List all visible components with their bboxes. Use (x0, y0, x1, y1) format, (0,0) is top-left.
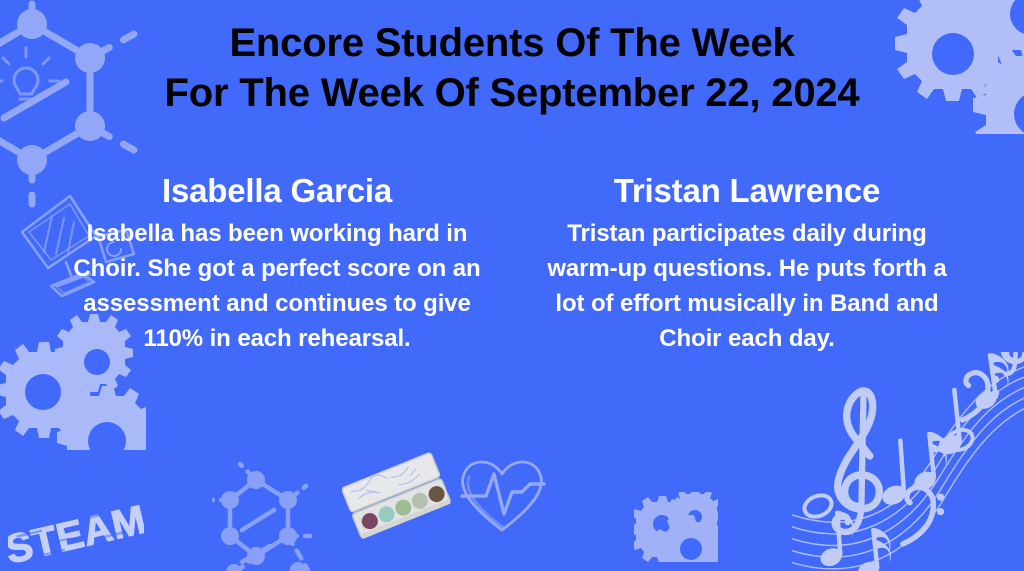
title-line-2: For The Week Of September 22, 2024 (40, 68, 984, 118)
students-row: Isabella Garcia Isabella has been workin… (0, 170, 1024, 356)
student-card-tristan-lawrence: Tristan Lawrence Tristan participates da… (532, 170, 962, 356)
student-name: Isabella Garcia (62, 170, 492, 212)
poster-canvas: STEAM (0, 0, 1024, 571)
student-description: Isabella has been working hard in Choir.… (62, 216, 492, 356)
title-line-1: Encore Students Of The Week (40, 18, 984, 68)
student-name: Tristan Lawrence (532, 170, 962, 212)
student-card-isabella-garcia: Isabella Garcia Isabella has been workin… (62, 170, 492, 356)
poster-title: Encore Students Of The Week For The Week… (0, 18, 1024, 118)
student-description: Tristan participates daily during warm-u… (532, 216, 962, 356)
